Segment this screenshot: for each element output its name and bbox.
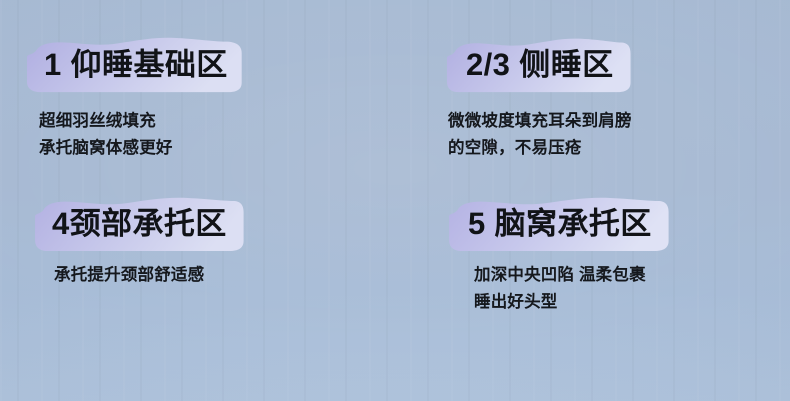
zone-block-1: 1 仰睡基础区 超细羽丝绒填充 承托脑窝体感更好 — [26, 36, 244, 162]
zone-4-heading-group: 4颈部承托区 — [34, 196, 245, 252]
zone-2-body: 微微坡度填充耳朵到肩膀 的空隙，不易压疮 — [448, 108, 632, 162]
zone-1-heading: 1 仰睡基础区 — [44, 49, 228, 80]
zone-4-heading: 4颈部承托区 — [52, 208, 227, 239]
infographic-canvas: 1 仰睡基础区 超细羽丝绒填充 承托脑窝体感更好 2/3 侧睡区 — [0, 0, 790, 401]
zone-1-body: 超细羽丝绒填充 承托脑窝体感更好 — [39, 108, 244, 162]
zone-2-heading: 2/3 侧睡区 — [466, 49, 614, 80]
zone-5-heading: 5 脑窝承托区 — [468, 208, 652, 239]
zone-5-heading-group: 5 脑窝承托区 — [448, 196, 670, 252]
zone-5-body: 加深中央凹陷 温柔包裹 睡出好头型 — [474, 262, 670, 316]
zone-block-4: 4颈部承托区 承托提升颈部舒适感 — [34, 196, 245, 289]
zone-block-5: 5 脑窝承托区 加深中央凹陷 温柔包裹 睡出好头型 — [448, 196, 670, 316]
zone-4-body: 承托提升颈部舒适感 — [54, 262, 245, 289]
zone-2-heading-group: 2/3 侧睡区 — [446, 36, 632, 94]
zone-block-2: 2/3 侧睡区 微微坡度填充耳朵到肩膀 的空隙，不易压疮 — [446, 36, 632, 162]
zone-1-heading-group: 1 仰睡基础区 — [26, 36, 244, 94]
